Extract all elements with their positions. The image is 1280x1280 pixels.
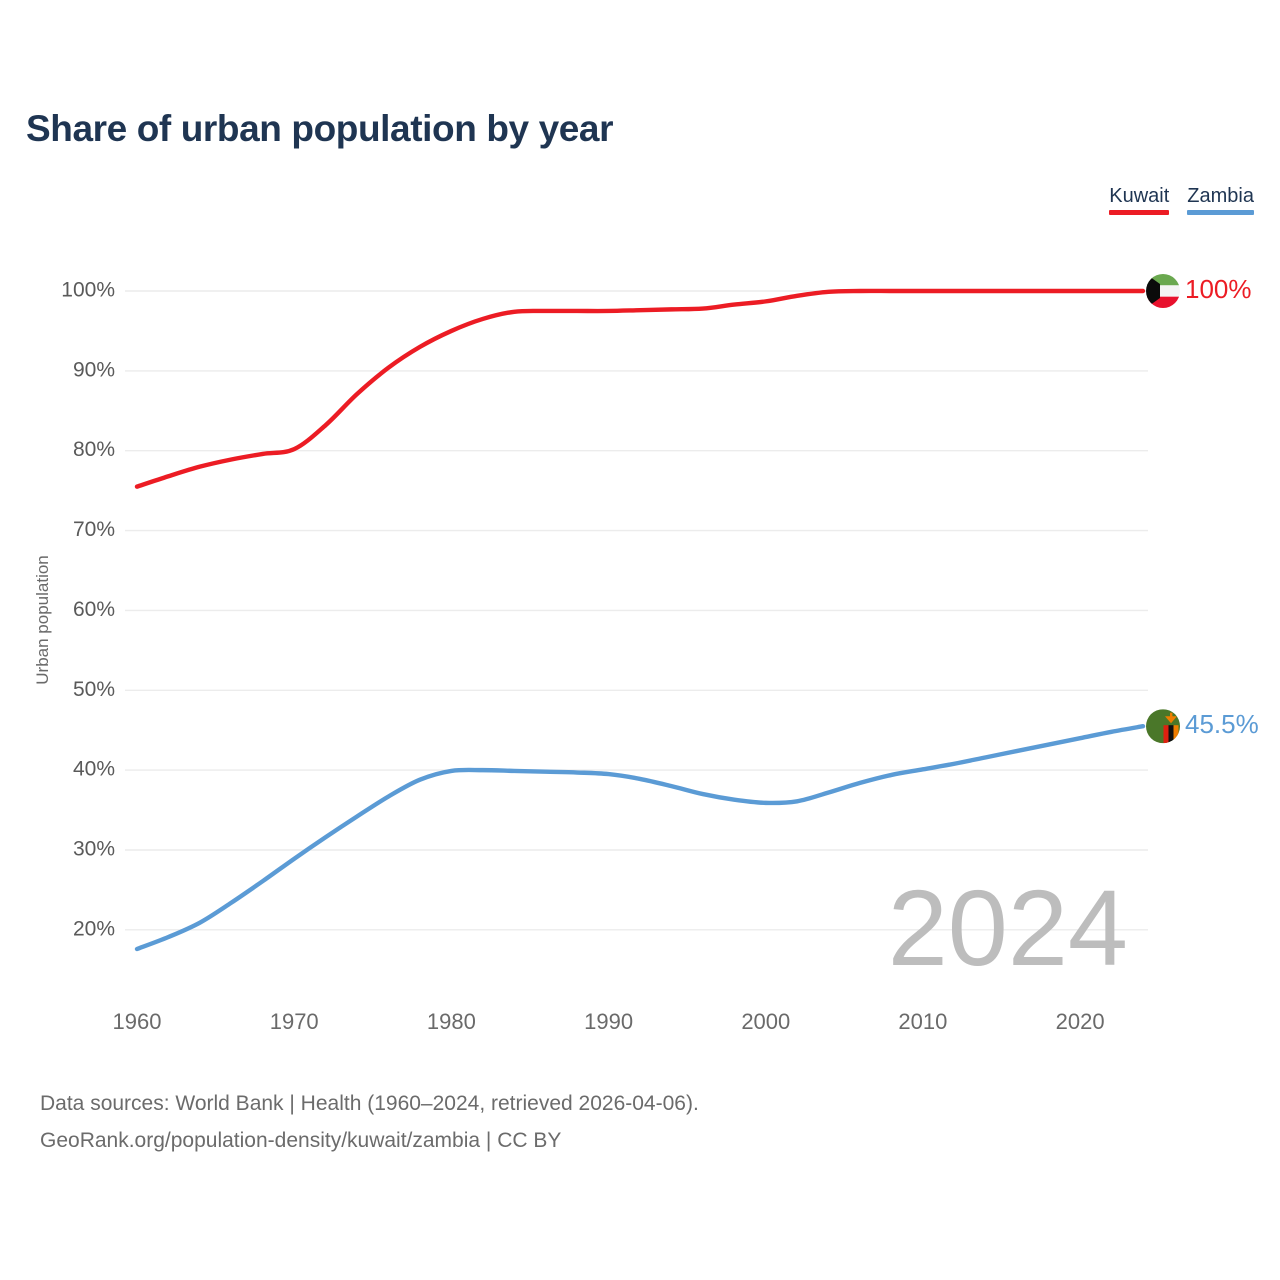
y-axis-tick-label: 80% [73,438,115,461]
x-axis-tick-label: 1960 [113,1009,162,1034]
x-axis-tick-label: 2000 [741,1009,790,1034]
x-axis-tick-label: 1970 [270,1009,319,1034]
kuwait-flag-icon [1146,274,1180,308]
series-endpoints: 100%45.5% [1146,274,1259,743]
endpoint-value-label-kuwait: 100% [1185,274,1252,304]
zambia-flag-icon [1146,709,1180,743]
gridlines [125,291,1148,930]
x-axis-tick-label: 2010 [898,1009,947,1034]
y-axis-tick-label: 40% [73,758,115,781]
x-axis-tick-label: 1980 [427,1009,476,1034]
footer: Data sources: World Bank | Health (1960–… [40,1085,699,1159]
x-axis-tick-label: 2020 [1056,1009,1105,1034]
y-axis-tick-label: 70% [73,518,115,541]
y-axis-tick-label: 90% [73,358,115,381]
footer-data-sources: Data sources: World Bank | Health (1960–… [40,1085,699,1122]
y-axis-tick-label: 50% [73,678,115,701]
y-axis-title: Urban population [33,555,52,684]
y-axis-tick-label: 30% [73,838,115,861]
y-axis-tick-label: 100% [61,279,115,302]
series-line-kuwait [137,291,1143,487]
watermark-year: 2024 [888,867,1128,988]
endpoint-value-label-zambia: 45.5% [1185,709,1259,739]
y-axis-tick-label: 60% [73,598,115,621]
footer-attribution: GeoRank.org/population-density/kuwait/za… [40,1122,699,1159]
x-axis-tick-labels: 1960197019801990200020102020 [113,1009,1105,1034]
chart-card: Share of urban population by year Kuwait… [0,0,1280,1280]
y-axis-tick-labels: 20%30%40%50%60%70%80%90%100% [61,279,115,941]
x-axis-tick-label: 1990 [584,1009,633,1034]
y-axis-tick-label: 20% [73,917,115,940]
